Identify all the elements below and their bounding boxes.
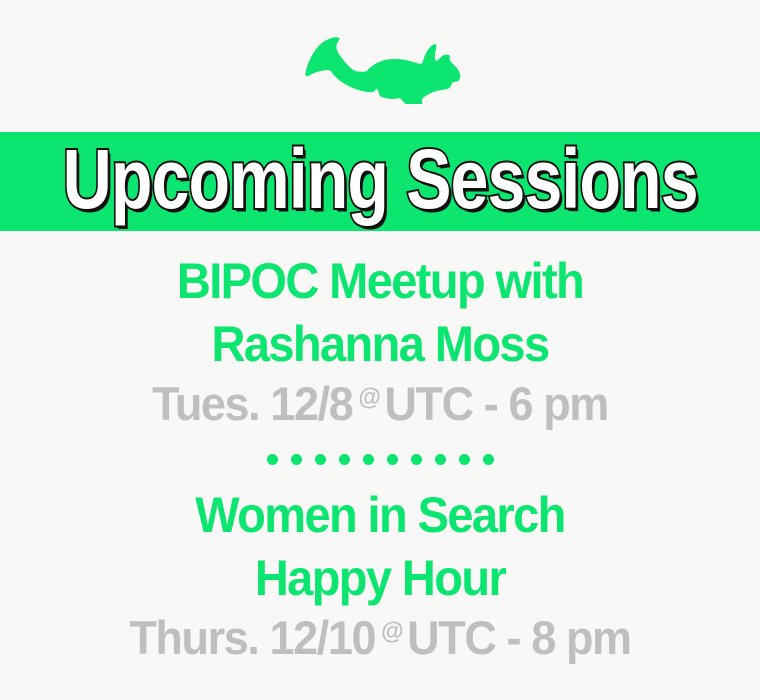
divider-dot <box>315 454 326 465</box>
page-title: Upcoming Sessions <box>62 135 697 228</box>
upcoming-sessions-banner: Upcoming Sessions <box>0 132 760 231</box>
dot-divider <box>267 439 494 479</box>
divider-dot <box>459 454 470 465</box>
divider-dot <box>411 454 422 465</box>
divider-dot <box>339 454 350 465</box>
divider-dot <box>267 454 278 465</box>
session-timezone-time: UTC - 8 pm <box>405 607 631 668</box>
session-datetime: Thurs. 12/10@UTC - 8 pm <box>129 607 630 668</box>
divider-dot <box>387 454 398 465</box>
session-datetime: Tues. 12/8@UTC - 6 pm <box>152 373 608 434</box>
divider-dot <box>291 454 302 465</box>
sessions-list: BIPOC Meetup with Rashanna Moss Tues. 12… <box>0 231 760 700</box>
upcoming-sessions-poster: Upcoming Sessions BIPOC Meetup with Rash… <box>0 0 760 700</box>
divider-dot <box>435 454 446 465</box>
session-title-line-2: Rashanna Moss <box>211 310 548 377</box>
at-symbol: @ <box>381 619 405 643</box>
session-timezone-time: UTC - 6 pm <box>382 373 608 434</box>
session-item[interactable]: Women in Search Happy Hour Thurs. 12/10@… <box>0 483 760 667</box>
divider-dot <box>483 454 494 465</box>
session-date: Tues. 12/8 <box>152 373 358 434</box>
session-title-line-2: Happy Hour <box>255 544 505 611</box>
session-item[interactable]: BIPOC Meetup with Rashanna Moss Tues. 12… <box>0 249 760 433</box>
divider-dot <box>363 454 374 465</box>
session-title-line-1: Women in Search <box>195 481 565 548</box>
session-title-line-1: BIPOC Meetup with <box>177 247 583 314</box>
at-symbol: @ <box>358 385 382 409</box>
logo-area <box>0 0 760 132</box>
session-date: Thurs. 12/10 <box>129 607 381 668</box>
squirrel-icon <box>296 32 464 104</box>
